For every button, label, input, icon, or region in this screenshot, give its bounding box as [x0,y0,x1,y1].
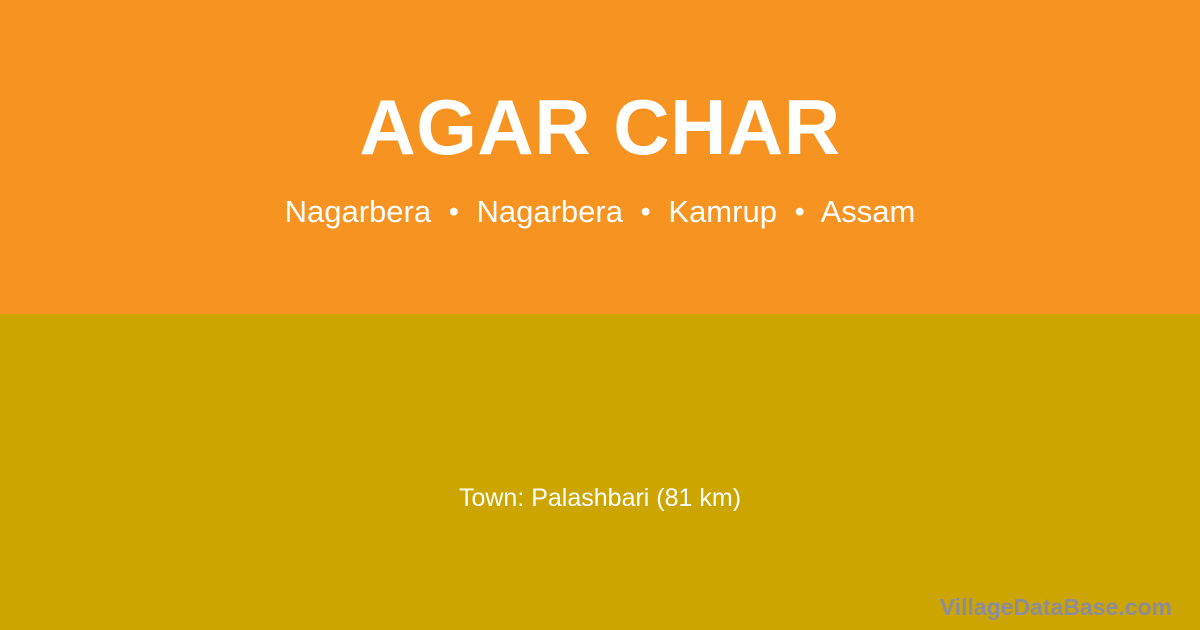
breadcrumb-separator-icon: • [786,198,814,227]
site-watermark: VillageDataBase.com [940,596,1172,619]
detail-banner: Town: Palashbari (81 km) [0,314,1200,630]
breadcrumb-item-block: Nagarbera [477,194,623,229]
hero-banner: AGAR CHAR Nagarbera • Nagarbera • Kamrup… [0,0,1200,314]
page-title: AGAR CHAR [359,88,840,166]
breadcrumb-separator-icon: • [632,198,660,227]
breadcrumb-separator-icon: • [440,198,468,227]
nearest-town-text: Town: Palashbari (81 km) [0,486,1200,511]
village-info-card: AGAR CHAR Nagarbera • Nagarbera • Kamrup… [0,0,1200,630]
breadcrumb-item-state: Assam [821,194,916,229]
breadcrumb-item-district: Kamrup [668,194,777,229]
hero-content: AGAR CHAR Nagarbera • Nagarbera • Kamrup… [0,0,1200,314]
breadcrumb: Nagarbera • Nagarbera • Kamrup • Assam [285,196,916,227]
breadcrumb-item-gram-panchayat: Nagarbera [285,194,431,229]
